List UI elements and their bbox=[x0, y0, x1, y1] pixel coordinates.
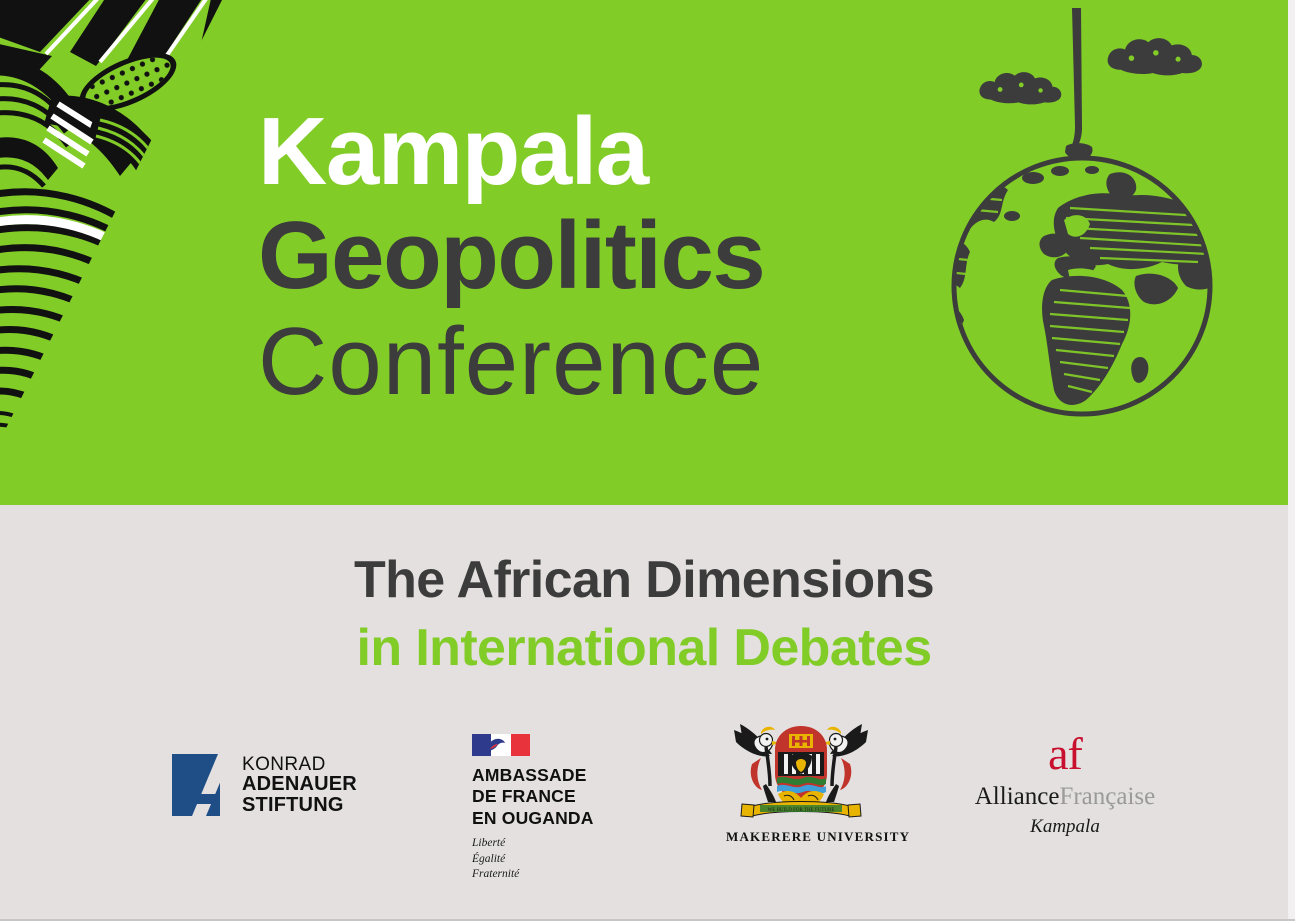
globe-icon bbox=[940, 158, 1226, 433]
logo-ambassade-de-france: AMBASSADE DE FRANCE EN OUGANDA Liberté É… bbox=[472, 718, 672, 883]
svg-text:WE BUILD FOR THE FUTURE: WE BUILD FOR THE FUTURE bbox=[768, 808, 835, 813]
af-word-alliance: Alliance bbox=[975, 783, 1060, 810]
hanging-globe-illustration bbox=[940, 8, 1230, 433]
subtitle-line-1: The African Dimensions bbox=[0, 552, 1288, 608]
conference-poster: Kampala Geopolitics Conference The Afric… bbox=[0, 0, 1295, 921]
makerere-name: MAKERERE UNIVERSITY bbox=[726, 829, 876, 845]
cloud-icon bbox=[979, 72, 1061, 104]
subtitle-line-2: in International Debates bbox=[0, 620, 1288, 676]
logo-makerere-university: WE BUILD FOR THE FUTURE MAKERERE UNIVERS… bbox=[726, 718, 876, 845]
french-republic-flag-icon bbox=[472, 734, 530, 756]
kas-line-2: ADENAUER bbox=[242, 774, 357, 794]
hero-banner: Kampala Geopolitics Conference bbox=[0, 0, 1288, 505]
right-edge-strip bbox=[1288, 0, 1295, 921]
france-line-3: EN OUGANDA bbox=[472, 808, 672, 829]
logo-konrad-adenauer-stiftung: KONRAD ADENAUER STIFTUNG bbox=[172, 718, 372, 816]
subtitle: The African Dimensions in International … bbox=[0, 552, 1288, 676]
makerere-coat-of-arms-icon: WE BUILD FOR THE FUTURE bbox=[726, 718, 876, 823]
title-line-geopolitics: Geopolitics bbox=[258, 208, 764, 304]
african-pattern-ornament bbox=[0, 0, 230, 440]
france-motto-3: Fraternité bbox=[472, 867, 672, 883]
france-motto-2: Égalité bbox=[472, 852, 672, 868]
logo-alliance-francaise-kampala: af AllianceFrançaise Kampala bbox=[960, 718, 1170, 838]
kas-line-1: KONRAD bbox=[242, 755, 357, 774]
title-line-conference: Conference bbox=[258, 314, 764, 410]
france-motto-1: Liberté bbox=[472, 836, 672, 852]
france-line-2: DE FRANCE bbox=[472, 786, 672, 807]
page-title: Kampala Geopolitics Conference bbox=[258, 104, 764, 410]
title-line-kampala: Kampala bbox=[258, 104, 764, 200]
kas-a-mark-icon bbox=[172, 754, 232, 816]
france-line-1: AMBASSADE bbox=[472, 765, 672, 786]
cloud-icon bbox=[1108, 38, 1202, 75]
rope-line bbox=[1065, 8, 1093, 160]
kas-line-3: STIFTUNG bbox=[242, 795, 357, 815]
af-city: Kampala bbox=[960, 816, 1170, 838]
partner-logos: KONRAD ADENAUER STIFTUNG bbox=[0, 718, 1288, 878]
af-word-francaise: Française bbox=[1059, 783, 1155, 810]
af-monogram-icon: af bbox=[960, 718, 1170, 776]
